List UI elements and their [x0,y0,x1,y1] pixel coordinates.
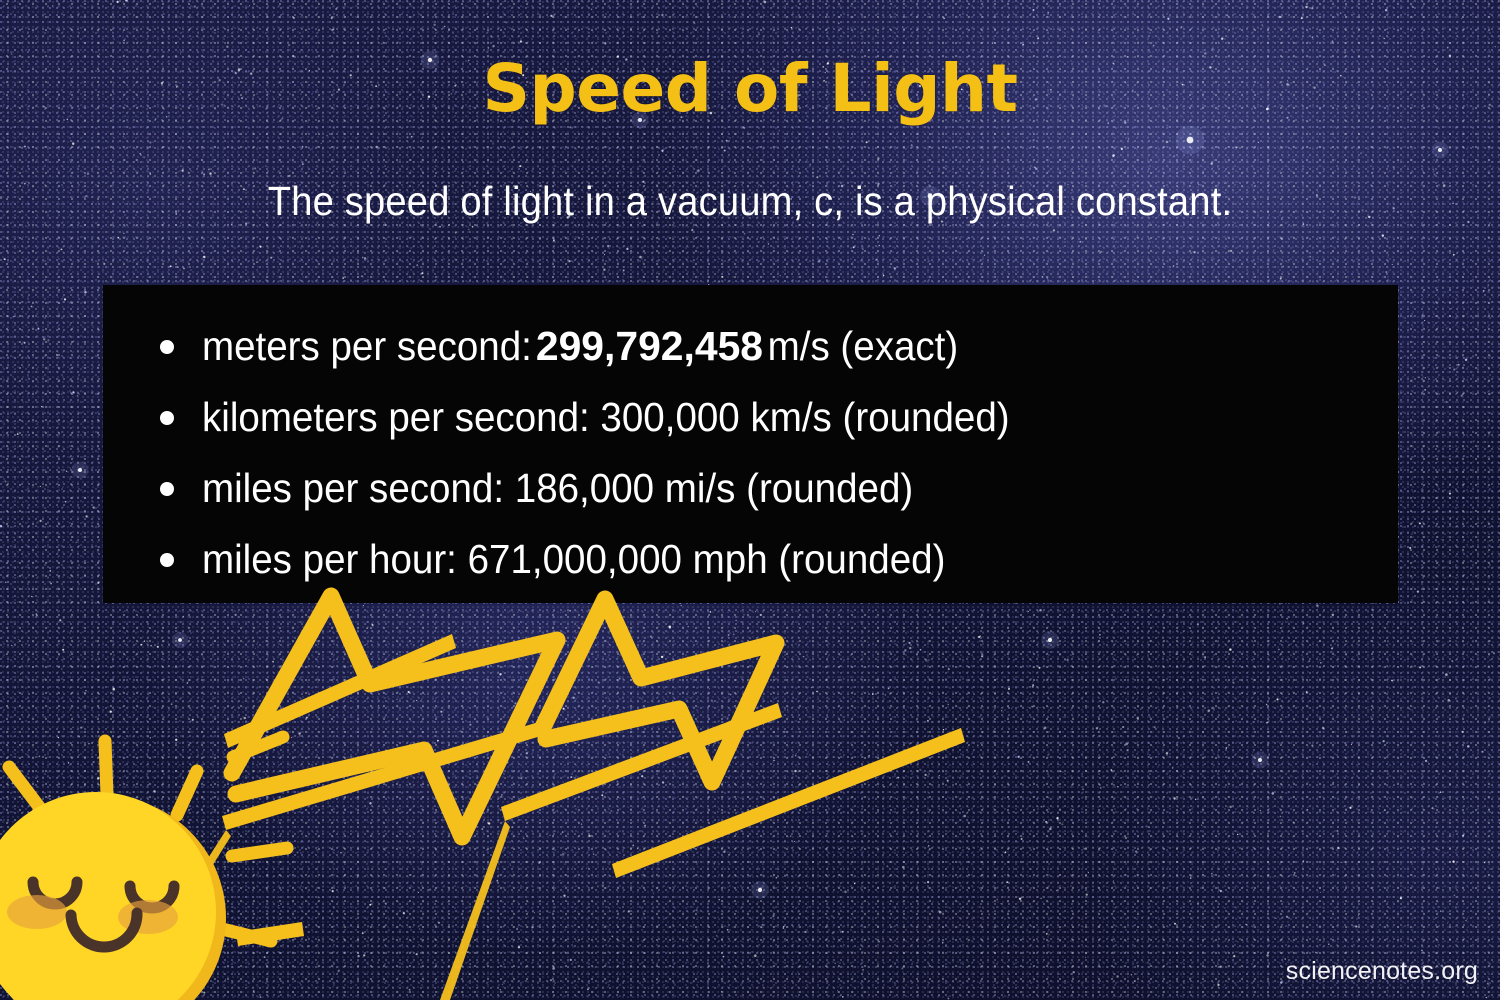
speed-line-4 [612,728,965,878]
sun-body-shadow [0,796,226,1000]
fact-label: miles per second: [202,465,515,511]
speed-line-2 [222,719,551,830]
fact-item: kilometers per second: 300,000 km/s (rou… [160,382,1398,453]
sun-blush-right [118,900,178,934]
fact-item: meters per second: 299,792,458 m/s (exac… [160,311,1398,382]
sun-blush-left [7,895,67,929]
page-title: Speed of Light [0,56,1500,122]
facts-panel: meters per second: 299,792,458 m/s (exac… [103,285,1398,603]
fact-item: miles per second: 186,000 mi/s (rounded) [160,453,1398,524]
sun-ray-2 [105,741,107,795]
lightning-arrow-left-icon [232,596,557,837]
speed-line-1 [224,634,456,748]
fact-unit: mi/s (rounded) [654,465,913,511]
speed-line-3 [501,703,782,821]
fact-text: kilometers per second: 300,000 km/s (rou… [202,382,1010,453]
fact-unit: mph (rounded) [682,536,946,582]
sun-ray-3 [177,771,197,815]
sun-eye-left [33,882,77,904]
fact-value: 671,000,000 [468,536,682,582]
fact-value: 300,000 [600,394,739,440]
speed-line-2-tail [118,830,231,1000]
fact-label: miles per hour: [202,536,468,582]
speed-lines-group [118,634,965,1000]
sun-ray-4 [233,737,283,757]
sun-ray-6 [222,929,271,941]
page-subtitle: The speed of light in a vacuum, c, is a … [53,178,1448,225]
fact-text: miles per hour: 671,000,000 mph (rounded… [202,524,945,595]
fact-label: meters per second: [202,323,543,369]
fact-unit: km/s (rounded) [740,394,1010,440]
facts-list: meters per second: 299,792,458 m/s (exac… [103,285,1398,595]
fact-unit: m/s (exact) [757,323,958,369]
site-watermark: sciencenotes.org [1286,957,1478,986]
bullet-icon [160,482,174,496]
fact-label: kilometers per second: [202,394,600,440]
sun-eye-right [130,886,174,908]
sun-ray-1 [9,767,43,812]
poster-canvas: Speed of Light The speed of light in a v… [0,0,1500,1000]
bullet-icon [160,340,174,354]
sun-icon [0,737,287,1000]
bullet-icon [160,411,174,425]
fact-value: 186,000 [515,465,654,511]
fact-item: miles per hour: 671,000,000 mph (rounded… [160,524,1398,595]
lightning-arrow-right-icon [543,599,776,782]
fact-text: miles per second: 186,000 mi/s (rounded) [202,453,913,524]
sun-ray-5 [232,848,287,856]
speed-line-5 [236,922,304,946]
fact-text: meters per second: 299,792,458 m/s (exac… [202,311,958,382]
bullet-icon [160,553,174,567]
fact-value: 299,792,458 [536,311,763,382]
sun-rays-group [9,737,287,941]
sun-smile [71,913,137,947]
sun-body [0,792,216,1000]
speed-line-3-tail [440,821,510,1000]
